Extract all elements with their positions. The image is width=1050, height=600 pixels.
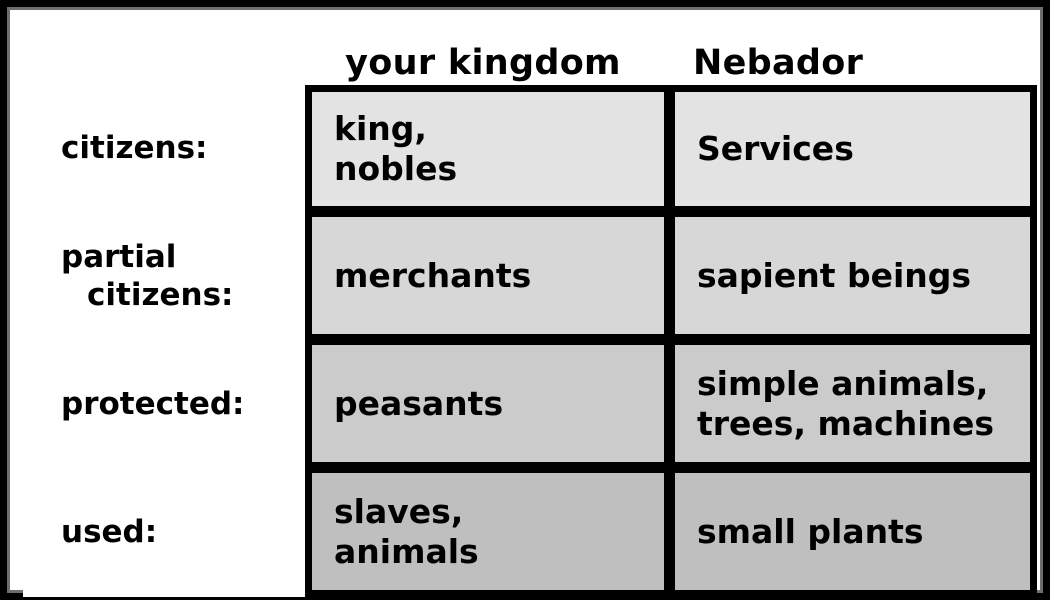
cell-protected-nebador-line-2: trees, machines <box>697 404 994 444</box>
row-label-partial-citizens-line-2: citizens: <box>61 277 233 315</box>
column-header-your-kingdom-label: your kingdom <box>345 43 621 83</box>
comparison-matrix: your kingdom Nebador citizens: king, nob… <box>23 23 1047 597</box>
column-header-nebador-label: Nebador <box>693 43 863 83</box>
row-label-protected: protected: <box>23 341 305 469</box>
cell-citizens-your-kingdom-line-1: king, <box>334 109 427 149</box>
comparison-table-image: your kingdom Nebador citizens: king, nob… <box>0 0 1050 600</box>
cell-partial-citizens-nebador-line-1: sapient beings <box>697 256 971 296</box>
cell-protected-nebador-line-1: simple animals, <box>697 364 988 404</box>
cell-used-your-kingdom: slaves, animals <box>305 469 671 597</box>
row-label-citizens-line-1: citizens: <box>61 130 207 168</box>
cell-protected-your-kingdom-line-1: peasants <box>334 384 503 424</box>
cell-citizens-nebador-line-1: Services <box>697 129 854 169</box>
cell-used-nebador: small plants <box>671 469 1037 597</box>
column-header-nebador: Nebador <box>671 23 1037 85</box>
row-label-used: used: <box>23 469 305 597</box>
row-label-partial-citizens: partial citizens: <box>23 213 305 341</box>
cell-citizens-your-kingdom: king, nobles <box>305 85 671 213</box>
row-label-protected-line-1: protected: <box>61 386 244 424</box>
cell-citizens-your-kingdom-line-2: nobles <box>334 149 457 189</box>
cell-protected-your-kingdom: peasants <box>305 341 671 469</box>
row-label-partial-citizens-line-1: partial <box>61 239 176 277</box>
cell-partial-citizens-nebador: sapient beings <box>671 213 1037 341</box>
cell-used-nebador-line-1: small plants <box>697 512 924 552</box>
cell-partial-citizens-your-kingdom-line-1: merchants <box>334 256 531 296</box>
cell-citizens-nebador: Services <box>671 85 1037 213</box>
cell-used-your-kingdom-line-2: animals <box>334 532 479 572</box>
column-header-your-kingdom: your kingdom <box>305 23 671 85</box>
image-page-surface: your kingdom Nebador citizens: king, nob… <box>23 23 1027 577</box>
image-frame-border: your kingdom Nebador citizens: king, nob… <box>7 7 1043 593</box>
cell-protected-nebador: simple animals, trees, machines <box>671 341 1037 469</box>
cell-used-your-kingdom-line-1: slaves, <box>334 492 463 532</box>
row-label-used-line-1: used: <box>61 514 157 552</box>
matrix-corner-blank <box>23 23 305 85</box>
row-label-citizens: citizens: <box>23 85 305 213</box>
cell-partial-citizens-your-kingdom: merchants <box>305 213 671 341</box>
